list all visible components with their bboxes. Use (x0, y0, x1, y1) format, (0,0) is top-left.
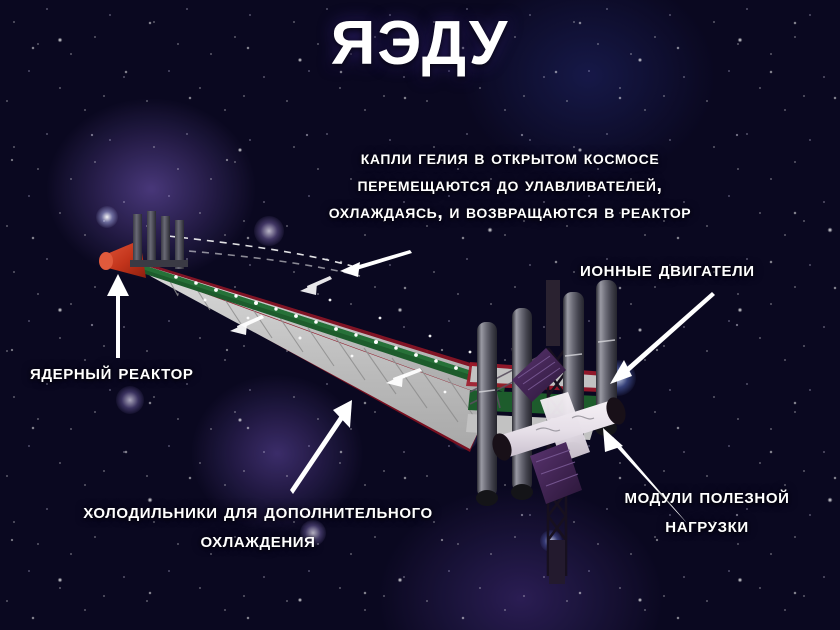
callout-label-payload-line-1: Модули полезной (578, 482, 836, 511)
up-arrow-icon (107, 274, 129, 358)
page-title: ЯЭДУ (0, 8, 840, 79)
callout-label-radiators-line-2: охлаждения (48, 526, 468, 555)
truss-end-block (549, 540, 565, 584)
truss-upper-mast (546, 280, 560, 346)
description-block: Капли гелия в открытом космосе перемещаю… (255, 145, 765, 226)
description-line-3: охлаждаясь, и возвращаются в реактор (255, 199, 765, 226)
up-right-arrow-icon (290, 400, 352, 494)
down-left-arrow-icon (610, 292, 715, 384)
callout-label-radiators-line-1: Холодильники для дополнительного (48, 497, 468, 526)
callout-label-payload-line-2: нагрузки (578, 511, 836, 540)
callout-label-radiators: Холодильники для дополнительного охлажде… (48, 497, 468, 555)
nuclear-reactor (99, 211, 188, 278)
droplet-trajectory (168, 236, 360, 276)
droplet-direction-arrow-icon (300, 276, 332, 295)
description-line-2: перемещаются до улавливателей, (255, 172, 765, 199)
callout-label-ion-engines: Ионные двигатели (580, 258, 755, 282)
infographic-canvas: ЯЭДУ Капли гелия в открытом космосе пере… (0, 0, 840, 630)
droplet-direction-arrow-icon (340, 250, 412, 277)
callout-label-payload: Модули полезной нагрузки (578, 482, 836, 540)
droplet-radiator-wing (132, 259, 506, 452)
callout-label-reactor: Ядерный реактор (30, 361, 193, 385)
description-line-1: Капли гелия в открытом космосе (255, 145, 765, 172)
